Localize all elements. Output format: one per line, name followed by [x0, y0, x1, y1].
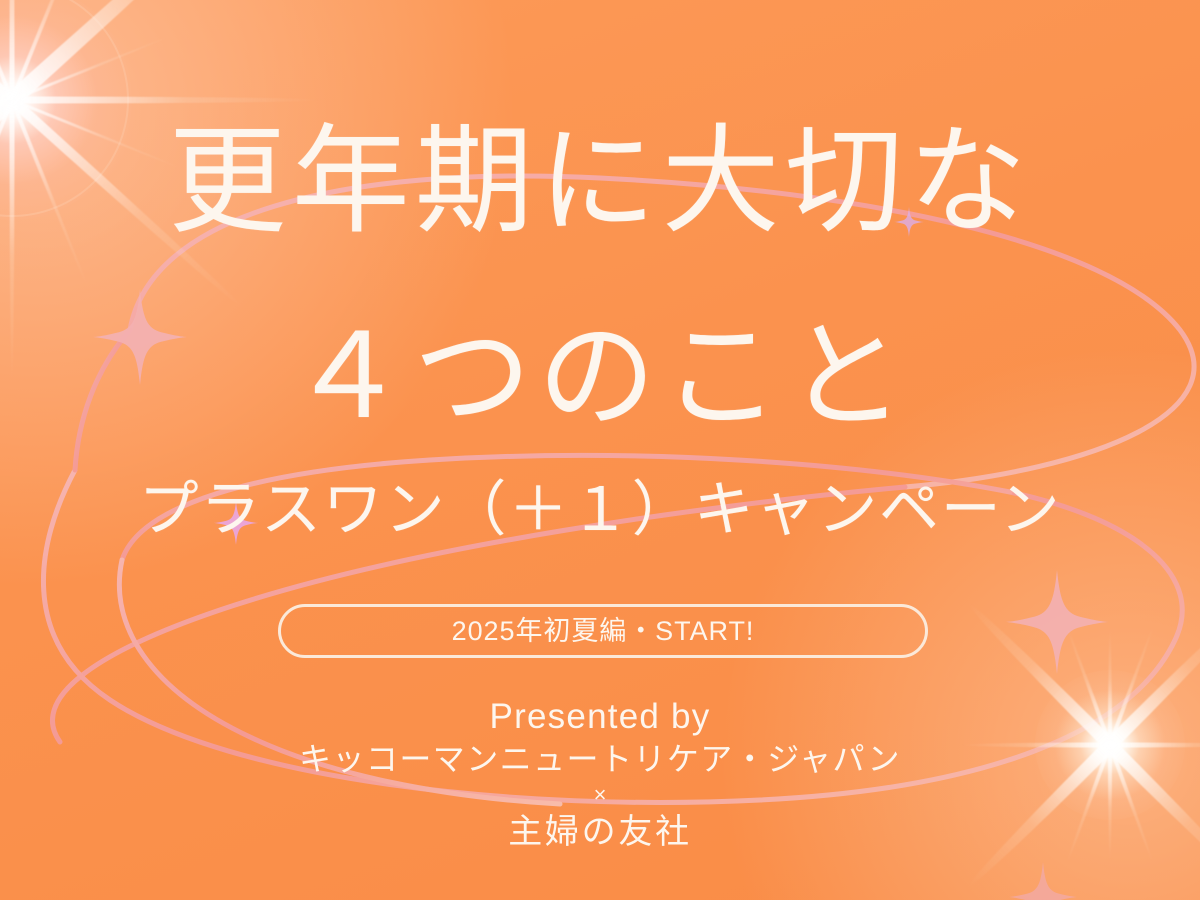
start-badge-label: 2025年初夏編・START!	[452, 618, 755, 645]
poster-canvas: 更年期に大切な ４つのこと プラスワン（＋１）キャンペーン 2025年初夏編・S…	[0, 0, 1200, 900]
credits-company: キッコーマンニュートリケア・ジャパン	[0, 739, 1200, 779]
headline-line-2: ４つのこと	[0, 318, 1200, 436]
credits-cross: ×	[0, 782, 1200, 808]
credits-block: Presented by キッコーマンニュートリケア・ジャパン × 主婦の友社	[0, 696, 1200, 853]
start-badge[interactable]: 2025年初夏編・START!	[278, 604, 928, 658]
credits-presented-by: Presented by	[0, 696, 1200, 737]
poster-content: 更年期に大切な ４つのこと プラスワン（＋１）キャンペーン 2025年初夏編・S…	[0, 0, 1200, 900]
headline-line-1: 更年期に大切な	[0, 123, 1200, 241]
credits-publisher: 主婦の友社	[0, 811, 1200, 854]
headline-line-3: プラスワン（＋１）キャンペーン	[0, 480, 1200, 540]
